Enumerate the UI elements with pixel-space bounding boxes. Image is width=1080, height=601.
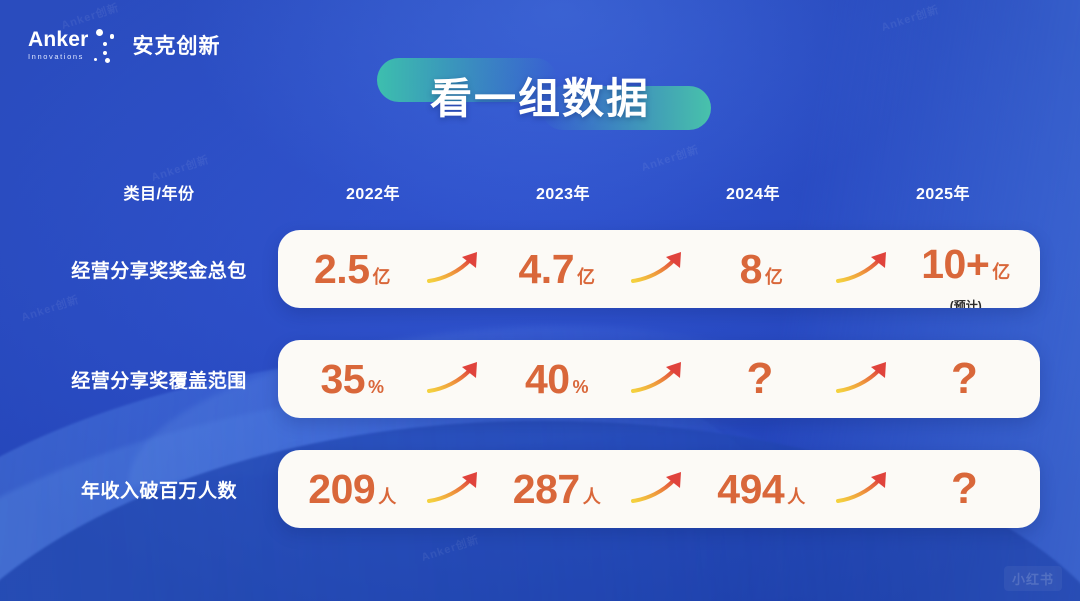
metric-cell: ? [892, 357, 1041, 401]
row-label: 经营分享奖覆盖范围 [40, 366, 278, 393]
metric-cell: 209 人 [278, 469, 427, 510]
row-value-card: 209 人 287 人 [278, 450, 1040, 528]
metric-unit: 亿 [765, 268, 783, 286]
metric-value: 209 [308, 469, 375, 510]
trend-up-arrow-icon [427, 250, 483, 288]
trend-up-arrow-icon [631, 470, 687, 508]
table-row: 年收入破百万人数 209 人 287 人 [40, 434, 1040, 544]
metric-value: 40 [525, 359, 570, 400]
trend-up-arrow-icon [836, 250, 892, 288]
metric-cell: ? [892, 467, 1041, 511]
trend-up-arrow-icon [427, 360, 483, 398]
trend-up-arrow-icon [427, 470, 483, 508]
header-year-2025: 2025年 [848, 180, 1038, 204]
metric-value: ? [951, 357, 977, 401]
metric-cell: 287 人 [483, 469, 632, 510]
metric-value: 8 [740, 249, 762, 290]
row-label: 年收入破百万人数 [40, 476, 278, 503]
header-category: 类目/年份 [40, 180, 278, 204]
page-title: 看一组数据 [375, 65, 705, 126]
metric-cell: 2.5 亿 [278, 249, 427, 290]
metric-value: ? [951, 467, 977, 511]
row-value-card: 35 % 40 % [278, 340, 1040, 418]
metric-value: 10+ [921, 244, 989, 285]
data-table: 类目/年份 2022年 2023年 2024年 2025年 经营分享奖奖金总包 … [40, 170, 1040, 544]
metric-unit: 人 [583, 488, 601, 506]
metric-value: 2.5 [314, 249, 370, 290]
trend-up-arrow-icon [631, 360, 687, 398]
metric-value: 4.7 [519, 249, 575, 290]
metric-cell: 40 % [483, 359, 632, 400]
table-row: 经营分享奖覆盖范围 35 % 40 % [40, 324, 1040, 434]
metric-cell: 8 亿 [687, 249, 836, 290]
metric-unit: % [368, 378, 384, 396]
slide-title-area: 看一组数据 [0, 56, 1080, 136]
watermark-text: Anker创新 [879, 1, 941, 35]
trend-up-arrow-icon [631, 250, 687, 288]
metric-cell: 494 人 [687, 469, 836, 510]
metric-value: ? [747, 357, 773, 401]
metric-unit: 亿 [992, 263, 1010, 281]
metric-cell: 4.7 亿 [483, 249, 632, 290]
table-header-row: 类目/年份 2022年 2023年 2024年 2025年 [40, 170, 1040, 214]
logo-word: Anker [28, 29, 89, 50]
metric-cell: ? [687, 357, 836, 401]
corner-watermark: 小红书 [1004, 566, 1062, 591]
trend-up-arrow-icon [836, 360, 892, 398]
metric-cell: 10+ 亿 (预计) [892, 249, 1041, 290]
presentation-slide: Anker创新 Anker创新 Anker创新 Anker创新 Anker创新 … [0, 0, 1080, 601]
metric-cell: 35 % [278, 359, 427, 400]
trend-up-arrow-icon [836, 470, 892, 508]
table-row: 经营分享奖奖金总包 2.5 亿 [40, 214, 1040, 324]
metric-unit: 人 [378, 488, 396, 506]
metric-unit: 人 [787, 488, 805, 506]
header-year-2022: 2022年 [278, 180, 468, 204]
metric-value: 35 [320, 359, 365, 400]
row-value-card: 2.5 亿 [278, 230, 1040, 308]
metric-value: 494 [717, 469, 784, 510]
metric-note: (预计) [892, 297, 1041, 309]
metric-unit: % [573, 378, 589, 396]
header-year-2023: 2023年 [468, 180, 658, 204]
header-year-2024: 2024年 [658, 180, 848, 204]
row-label: 经营分享奖奖金总包 [40, 256, 278, 283]
metric-unit: 亿 [577, 268, 595, 286]
metric-unit: 亿 [373, 268, 391, 286]
metric-value: 287 [513, 469, 580, 510]
